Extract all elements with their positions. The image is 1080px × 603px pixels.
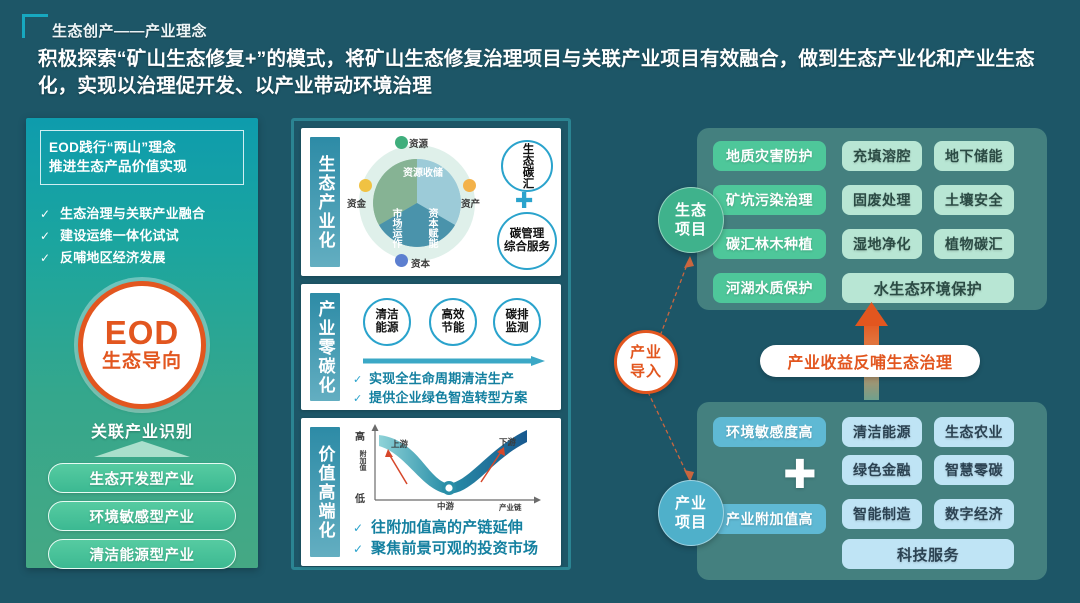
- cycle-segment-label-2: 市场运作: [389, 208, 401, 248]
- tag-label: 植物碳汇: [945, 234, 1003, 254]
- left-panel-title-line2: 推进生态产品价值实现: [49, 157, 239, 176]
- tag-label: 地下储能: [945, 146, 1003, 166]
- chart-x-axis-label: 产业链: [499, 502, 522, 513]
- smile-curve-chart: 高 低 附加值 产业链 上游 中游 下游: [349, 422, 549, 514]
- check-icon: ✓: [40, 251, 60, 265]
- list-item: ✓ 建设运维一体化试试: [40, 225, 250, 244]
- industry-pill-label: 清洁能源型产业: [90, 544, 195, 565]
- left-panel-title-box: EOD践行“两山”理念 推进生态产品价值实现: [40, 130, 244, 185]
- yen-icon: [463, 179, 476, 192]
- industry-pill-2[interactable]: 清洁能源型产业: [48, 539, 236, 569]
- cycle-outer-label-asset: 资产: [461, 196, 480, 210]
- check-icon: ✓: [40, 207, 60, 221]
- eco-secondary-tag-1[interactable]: 地下储能: [934, 141, 1014, 171]
- mid-card-eco-industrialization: 生态产业化 资源收储 资本赋能 市场运作 资源 资产: [301, 128, 561, 276]
- cycle-segment-label-0: 资源收储: [403, 168, 443, 180]
- tag-label: 智慧零碳: [945, 460, 1003, 480]
- hub-line2: 项目: [675, 220, 707, 239]
- check-icon: ✓: [353, 373, 369, 386]
- carbon-sink-label: 生态碳汇: [521, 143, 534, 189]
- ind-secondary-tag-0[interactable]: 清洁能源: [842, 417, 922, 447]
- cycle-outer-label-capital: 资本: [411, 256, 430, 270]
- eod-badge-main: EOD: [105, 316, 180, 350]
- list-item: ✓ 提供企业绿色智造转型方案: [353, 387, 527, 406]
- circle-line1: 清洁: [376, 309, 399, 322]
- page-kicker: 生态创产——产业理念: [52, 20, 207, 41]
- mid-card-3-vertical-label: 价值高端化: [310, 427, 340, 557]
- tag-label: 充填溶腔: [853, 146, 911, 166]
- ind-secondary-tag-4[interactable]: 智能制造: [842, 499, 922, 529]
- tag-label: 清洁能源: [853, 422, 911, 442]
- hub-line1: 产业: [675, 494, 707, 513]
- hub-line2: 导入: [630, 362, 662, 381]
- mid-card-zero-carbon: 产业零碳化 清洁 能源 高效 节能 碳排 监测 ✓ 实现全生命周期清洁生产 ✓: [301, 284, 561, 410]
- list-item: ✓ 实现全生命周期清洁生产: [353, 368, 527, 387]
- cycle-segment-label-1: 资本赋能: [425, 208, 437, 248]
- bullet-label: 提供企业绿色智造转型方案: [369, 387, 527, 406]
- carbon-mgmt-line2: 综合服务: [504, 241, 550, 254]
- ind-secondary-tag-3[interactable]: 智慧零碳: [934, 455, 1014, 485]
- circle-line2: 能源: [376, 322, 399, 335]
- tag-label: 智能制造: [853, 504, 911, 524]
- check-icon: ✓: [353, 521, 371, 535]
- corner-bracket-icon: [22, 14, 48, 38]
- circle-line2: 节能: [442, 322, 465, 335]
- bullet-label: 聚焦前景可观的投资市场: [371, 537, 538, 558]
- mid-card-1-vertical-label: 生态产业化: [310, 137, 340, 267]
- ind-secondary-tag-2[interactable]: 绿色金融: [842, 455, 922, 485]
- bullet-label: 往附加值高的产链延伸: [371, 516, 523, 537]
- bullet-label: 生态治理与关联产业融合: [60, 203, 205, 222]
- hub-eco-projects[interactable]: 生态 项目: [658, 187, 724, 253]
- mid-card-value-upgrade: 价值高端化: [301, 418, 561, 566]
- middle-column-frame: 生态产业化 资源收储 资本赋能 市场运作 资源 资产: [291, 118, 571, 570]
- left-panel-bullets: ✓ 生态治理与关联产业融合 ✓ 建设运维一体化试试 ✓ 反哺地区经济发展: [40, 203, 250, 269]
- bullet-label: 反哺地区经济发展: [60, 247, 166, 266]
- chart-point-downstream: 下游: [499, 436, 516, 448]
- check-icon: ✓: [40, 229, 60, 243]
- eco-wide-tag[interactable]: 水生态环境保护: [842, 273, 1014, 303]
- check-icon: ✓: [353, 392, 369, 405]
- eco-primary-tag-3[interactable]: 河湖水质保护: [713, 273, 826, 303]
- tag-label: 地质灾害防护: [726, 146, 813, 166]
- eco-projects-panel: 地质灾害防护 矿坑污染治理 碳汇林木种植 河湖水质保护 充填溶腔 地下储能 固废…: [697, 128, 1047, 310]
- coin-icon: [359, 179, 372, 192]
- tag-label: 环境敏感度高: [726, 422, 813, 442]
- eco-primary-tag-2[interactable]: 碳汇林木种植: [713, 229, 826, 259]
- zero-carbon-bullets: ✓ 实现全生命周期清洁生产 ✓ 提供企业绿色智造转型方案: [353, 368, 527, 406]
- eod-badge-sub: 生态导向: [102, 350, 182, 374]
- page-header: 生态创产——产业理念 积极探索“矿山生态修复+”的模式，将矿山生态修复治理项目与…: [0, 0, 1080, 108]
- left-panel-subtitle: 关联产业识别: [26, 418, 258, 442]
- hub-industry-projects[interactable]: 产业 项目: [658, 480, 724, 546]
- tag-label: 绿色金融: [853, 460, 911, 480]
- tag-label: 科技服务: [897, 544, 959, 565]
- eco-secondary-tag-3[interactable]: 土壤安全: [934, 185, 1014, 215]
- cycle-outer-label-fund: 资金: [347, 196, 366, 210]
- zero-carbon-circle-1[interactable]: 高效 节能: [429, 298, 477, 346]
- tag-label: 矿坑污染治理: [726, 190, 813, 210]
- zero-carbon-circle-0[interactable]: 清洁 能源: [363, 298, 411, 346]
- hub-line2: 项目: [675, 513, 707, 532]
- tag-label: 湿地净化: [853, 234, 911, 254]
- industry-pill-label: 生态开发型产业: [90, 468, 195, 489]
- resource-cycle-diagram: 资源收储 资本赋能 市场运作 资源 资产 资本 资金: [349, 134, 499, 272]
- left-panel: EOD践行“两山”理念 推进生态产品价值实现 ✓ 生态治理与关联产业融合 ✓ 建…: [26, 118, 258, 568]
- leaf-icon: [395, 136, 408, 149]
- tag-label: 生态农业: [945, 422, 1003, 442]
- tag-label: 数字经济: [945, 504, 1003, 524]
- chart-y-low-label: 低: [355, 490, 365, 505]
- tag-label: 土壤安全: [945, 190, 1003, 210]
- eco-secondary-tag-5[interactable]: 植物碳汇: [934, 229, 1014, 259]
- feedback-banner-label: 产业收益反哺生态治理: [787, 349, 952, 373]
- industry-projects-panel: 环境敏感度高 产业附加值高 清洁能源 生态农业 绿色金融 智慧零碳 智能制造 数…: [697, 402, 1047, 580]
- tag-label: 碳汇林木种植: [726, 234, 813, 254]
- tag-label: 水生态环境保护: [874, 278, 983, 299]
- chart-point-upstream: 上游: [391, 438, 408, 450]
- ind-primary-tag-0[interactable]: 环境敏感度高: [713, 417, 826, 447]
- ind-primary-tag-1[interactable]: 产业附加值高: [713, 504, 826, 534]
- bullet-label: 建设运维一体化试试: [60, 225, 179, 244]
- circle-line1: 高效: [442, 309, 465, 322]
- zero-carbon-circle-2[interactable]: 碳排 监测: [493, 298, 541, 346]
- feedback-banner: 产业收益反哺生态治理: [760, 345, 980, 377]
- mid-card-2-vertical-label: 产业零碳化: [310, 293, 340, 401]
- hub-line1: 产业: [630, 343, 662, 362]
- eco-primary-tag-0[interactable]: 地质灾害防护: [713, 141, 826, 171]
- check-icon: ✓: [353, 542, 371, 556]
- chart-y-axis-label: 附加值: [357, 450, 367, 471]
- eco-primary-tag-1[interactable]: 矿坑污染治理: [713, 185, 826, 215]
- plus-icon: ✚: [515, 190, 533, 212]
- eco-secondary-tag-4[interactable]: 湿地净化: [842, 229, 922, 259]
- ind-secondary-tag-1[interactable]: 生态农业: [934, 417, 1014, 447]
- industry-pill-1[interactable]: 环境敏感型产业: [48, 501, 236, 531]
- left-panel-title-line1: EOD践行“两山”理念: [49, 138, 239, 157]
- tag-label: 河湖水质保护: [726, 278, 813, 298]
- list-item: ✓ 生态治理与关联产业融合: [40, 203, 250, 222]
- value-upgrade-bullets: ✓ 往附加值高的产链延伸 ✓ 聚焦前景可观的投资市场: [353, 516, 538, 558]
- up-arrow-icon: [86, 441, 198, 457]
- chart-y-high-label: 高: [355, 428, 365, 443]
- eco-secondary-tag-0[interactable]: 充填溶腔: [842, 141, 922, 171]
- carbon-mgmt-line1: 碳管理: [510, 228, 545, 241]
- industry-pill-label: 环境敏感型产业: [90, 506, 195, 527]
- tag-label: 固废处理: [853, 190, 911, 210]
- carbon-sink-circle[interactable]: 生态碳汇: [501, 140, 553, 192]
- tag-label: 产业附加值高: [726, 509, 813, 529]
- ind-wide-tag[interactable]: 科技服务: [842, 539, 1014, 569]
- carbon-mgmt-circle[interactable]: 碳管理 综合服务: [497, 212, 557, 270]
- hub-line1: 生态: [675, 201, 707, 220]
- circle-line2: 监测: [506, 322, 529, 335]
- eod-badge: EOD 生态导向: [78, 281, 206, 409]
- chart-icon: [395, 254, 408, 267]
- bullet-label: 实现全生命周期清洁生产: [369, 368, 514, 387]
- circle-line1: 碳排: [506, 309, 529, 322]
- industry-pill-0[interactable]: 生态开发型产业: [48, 463, 236, 493]
- list-item: ✓ 聚焦前景可观的投资市场: [353, 537, 538, 558]
- eco-secondary-tag-2[interactable]: 固废处理: [842, 185, 922, 215]
- list-item: ✓ 反哺地区经济发展: [40, 247, 250, 266]
- ind-secondary-tag-5[interactable]: 数字经济: [934, 499, 1014, 529]
- cycle-outer-label-resource: 资源: [409, 136, 428, 150]
- list-item: ✓ 往附加值高的产链延伸: [353, 516, 538, 537]
- hub-industry-import[interactable]: 产业 导入: [614, 330, 678, 394]
- chart-point-mid: 中游: [437, 500, 454, 512]
- plus-icon: ✚: [783, 455, 817, 495]
- page-headline: 积极探索“矿山生态修复+”的模式，将矿山生态修复治理项目与关联产业项目有效融合，…: [38, 46, 1058, 100]
- right-arrow-icon: [363, 356, 545, 366]
